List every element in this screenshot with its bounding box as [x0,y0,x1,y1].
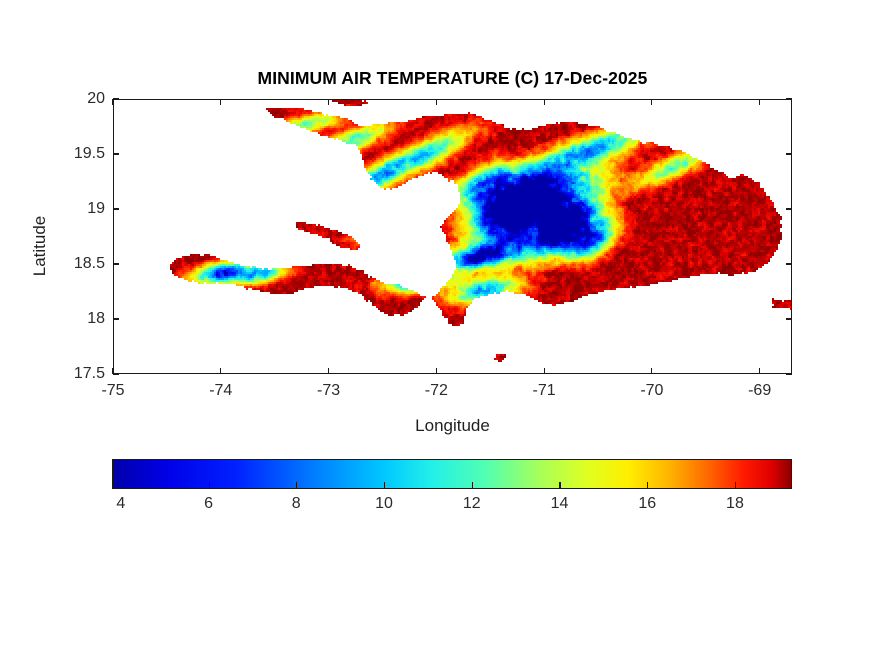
colorbar-tick-label: 8 [292,495,301,513]
colorbar-tick-label: 16 [638,495,656,513]
colorbar-tick [121,482,122,488]
y-tick-right [786,98,792,99]
colorbar[interactable] [112,459,792,489]
colorbar-tick-label: 6 [204,495,213,513]
x-tick [220,368,221,374]
y-tick [113,263,119,264]
colorbar-tick [296,482,297,488]
y-tick-label: 18 [43,310,105,328]
y-tick [113,208,119,209]
page-title: MINIMUM AIR TEMPERATURE (C) 17-Dec-2025 [113,68,792,89]
colorbar-tick [559,482,560,488]
y-tick [113,318,119,319]
y-tick-right [786,263,792,264]
x-tick-label: -73 [317,382,340,400]
x-tick-top [328,99,329,105]
y-tick-right [786,318,792,319]
y-tick-right [786,153,792,154]
x-tick-top [436,99,437,105]
x-tick-label: -74 [209,382,232,400]
y-tick-label: 20 [43,90,105,108]
colorbar-tick [735,482,736,488]
x-axis-label: Longitude [113,416,792,436]
x-tick-label: -71 [533,382,556,400]
y-tick-label: 17.5 [43,365,105,383]
y-tick [113,98,119,99]
x-tick [651,368,652,374]
map-axes [113,99,792,374]
x-tick [328,368,329,374]
y-tick [113,153,119,154]
x-tick-label: -72 [425,382,448,400]
temperature-heatmap [114,100,791,373]
x-tick-label: -69 [748,382,771,400]
x-tick-top [112,99,113,105]
x-tick [759,368,760,374]
x-tick-top [544,99,545,105]
colorbar-tick [472,482,473,488]
colorbar-tick-label: 14 [551,495,569,513]
x-tick-top [651,99,652,105]
x-tick-label: -75 [101,382,124,400]
colorbar-tick [647,482,648,488]
y-tick-right [786,373,792,374]
y-axis-label: Latitude [30,186,50,306]
x-tick-top [759,99,760,105]
colorbar-tick [209,482,210,488]
colorbar-tick-label: 18 [726,495,744,513]
colorbar-tick-label: 4 [116,495,125,513]
x-tick [544,368,545,374]
y-tick-label: 19.5 [43,145,105,163]
colorbar-tick-label: 10 [375,495,393,513]
y-tick-label: 18.5 [43,255,105,273]
colorbar-tick [384,482,385,488]
x-tick-label: -70 [640,382,663,400]
colorbar-tick-label: 12 [463,495,481,513]
y-tick [113,373,119,374]
matlab-figure-canvas: MINIMUM AIR TEMPERATURE (C) 17-Dec-2025 … [0,0,875,656]
colorbar-gradient [112,459,792,489]
y-tick-right [786,208,792,209]
x-tick-top [220,99,221,105]
x-tick [436,368,437,374]
y-tick-label: 19 [43,200,105,218]
